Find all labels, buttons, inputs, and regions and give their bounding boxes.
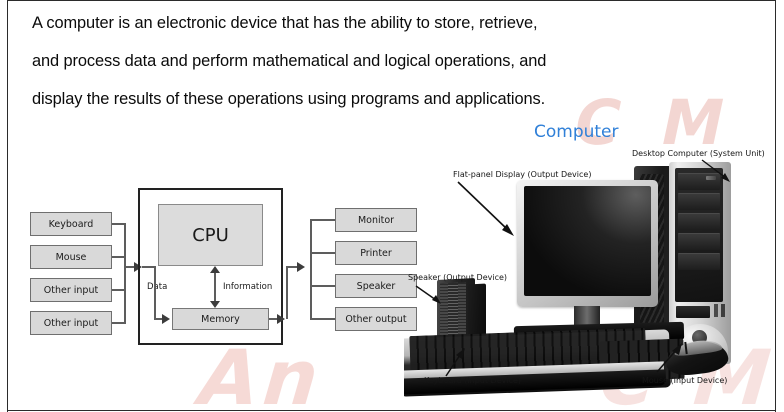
connector-output-other xyxy=(310,318,336,320)
connector-output-bus xyxy=(310,219,312,320)
callout-arrow-keyboard xyxy=(442,346,468,380)
callout-arrow-mouse xyxy=(654,340,686,376)
connector-data-down xyxy=(154,266,156,319)
diagram-label-information: Information xyxy=(223,282,272,292)
computer-block-diagram: Keyboard Mouse Other input Other input C… xyxy=(14,186,400,362)
connector-cpu-memory xyxy=(214,272,216,302)
arrow-to-output-bus xyxy=(297,262,305,272)
callout-arrow-desktop xyxy=(700,158,740,184)
arrow-memory-out xyxy=(277,314,285,324)
connector-output-monitor xyxy=(310,219,336,221)
page-canvas: C M An C M A computer is an electronic d… xyxy=(0,0,784,412)
intro-paragraph: A computer is an electronic device that … xyxy=(32,4,738,118)
tower-usb-port xyxy=(714,304,718,317)
diagram-input-mouse: Mouse xyxy=(30,245,112,269)
callout-label-display: Flat-panel Display (Output Device) xyxy=(453,170,591,179)
tower-drive-bay xyxy=(678,193,720,210)
connector-output-riser xyxy=(286,266,288,319)
diagram-cpu-box: CPU xyxy=(158,204,263,266)
intro-line-2: and process data and perform mathematica… xyxy=(32,42,738,80)
diagram-label-data: Data xyxy=(147,282,167,292)
callout-arrow-display xyxy=(456,180,526,246)
tower-drive-bay xyxy=(678,213,720,230)
arrow-cpu-to-memory xyxy=(210,301,220,308)
tower-drive-bay xyxy=(678,233,720,250)
page-border-left xyxy=(7,0,8,412)
connector-output-printer xyxy=(310,252,336,254)
photo-title: Computer xyxy=(534,122,619,142)
page-border-bottom xyxy=(7,410,776,411)
arrow-data-to-memory xyxy=(162,314,170,324)
connector-input-bus xyxy=(124,223,126,324)
intro-line-3: display the results of these operations … xyxy=(32,80,738,118)
intro-line-1: A computer is an electronic device that … xyxy=(32,4,738,42)
callout-arrow-speaker xyxy=(414,284,448,308)
diagram-input-other-1: Other input xyxy=(30,278,112,302)
callout-label-desktop: Desktop Computer (System Unit) xyxy=(632,149,765,158)
tower-usb-port xyxy=(721,304,725,317)
monitor-screen xyxy=(524,186,651,296)
page-border-top xyxy=(7,0,776,1)
callout-label-speaker: Speaker (Output Device) xyxy=(408,273,507,282)
diagram-input-keyboard: Keyboard xyxy=(30,212,112,236)
callout-label-keyboard: Keyboard (Input Device) xyxy=(424,376,521,385)
callout-label-mouse: Mouse (Input Device) xyxy=(642,376,727,385)
arrow-memory-to-cpu xyxy=(210,266,220,273)
tower-floppy-drive xyxy=(676,306,710,318)
computer-photo-panel: Computer xyxy=(404,118,776,410)
diagram-input-other-2: Other input xyxy=(30,311,112,335)
diagram-memory-box: Memory xyxy=(172,308,269,330)
tower-drive-bay xyxy=(678,253,720,270)
connector-output-speaker xyxy=(310,285,336,287)
